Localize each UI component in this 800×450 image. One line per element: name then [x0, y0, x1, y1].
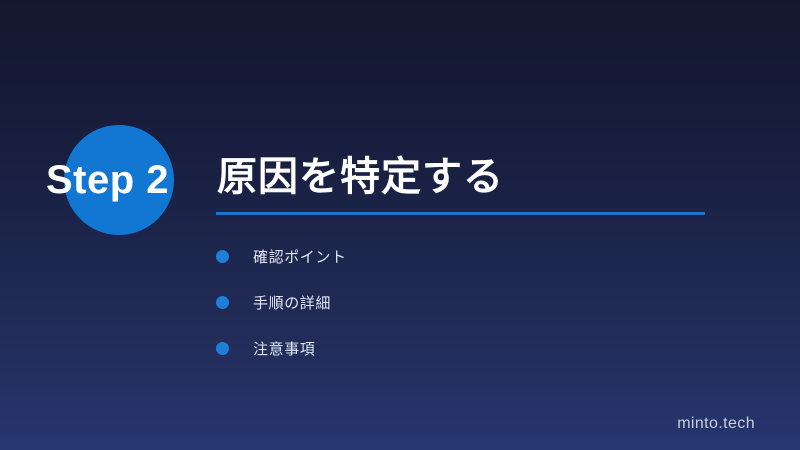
slide-canvas: Step 2 原因を特定する 確認ポイント 手順の詳細 注意事項 minto.t… [0, 0, 800, 450]
list-item: 注意事項 [216, 325, 716, 371]
bullet-dot-icon [216, 250, 229, 263]
page-title: 原因を特定する [217, 149, 504, 205]
bullet-dot-icon [216, 296, 229, 309]
list-item-label: 注意事項 [253, 338, 315, 359]
title-divider [216, 212, 705, 215]
step-label: Step 2 [46, 152, 206, 208]
bullet-list: 確認ポイント 手順の詳細 注意事項 [216, 233, 716, 371]
list-item: 手順の詳細 [216, 279, 716, 325]
footer-brand: minto.tech [677, 415, 755, 433]
list-item: 確認ポイント [216, 233, 716, 279]
list-item-label: 確認ポイント [253, 246, 347, 267]
bullet-dot-icon [216, 342, 229, 355]
list-item-label: 手順の詳細 [253, 292, 331, 313]
